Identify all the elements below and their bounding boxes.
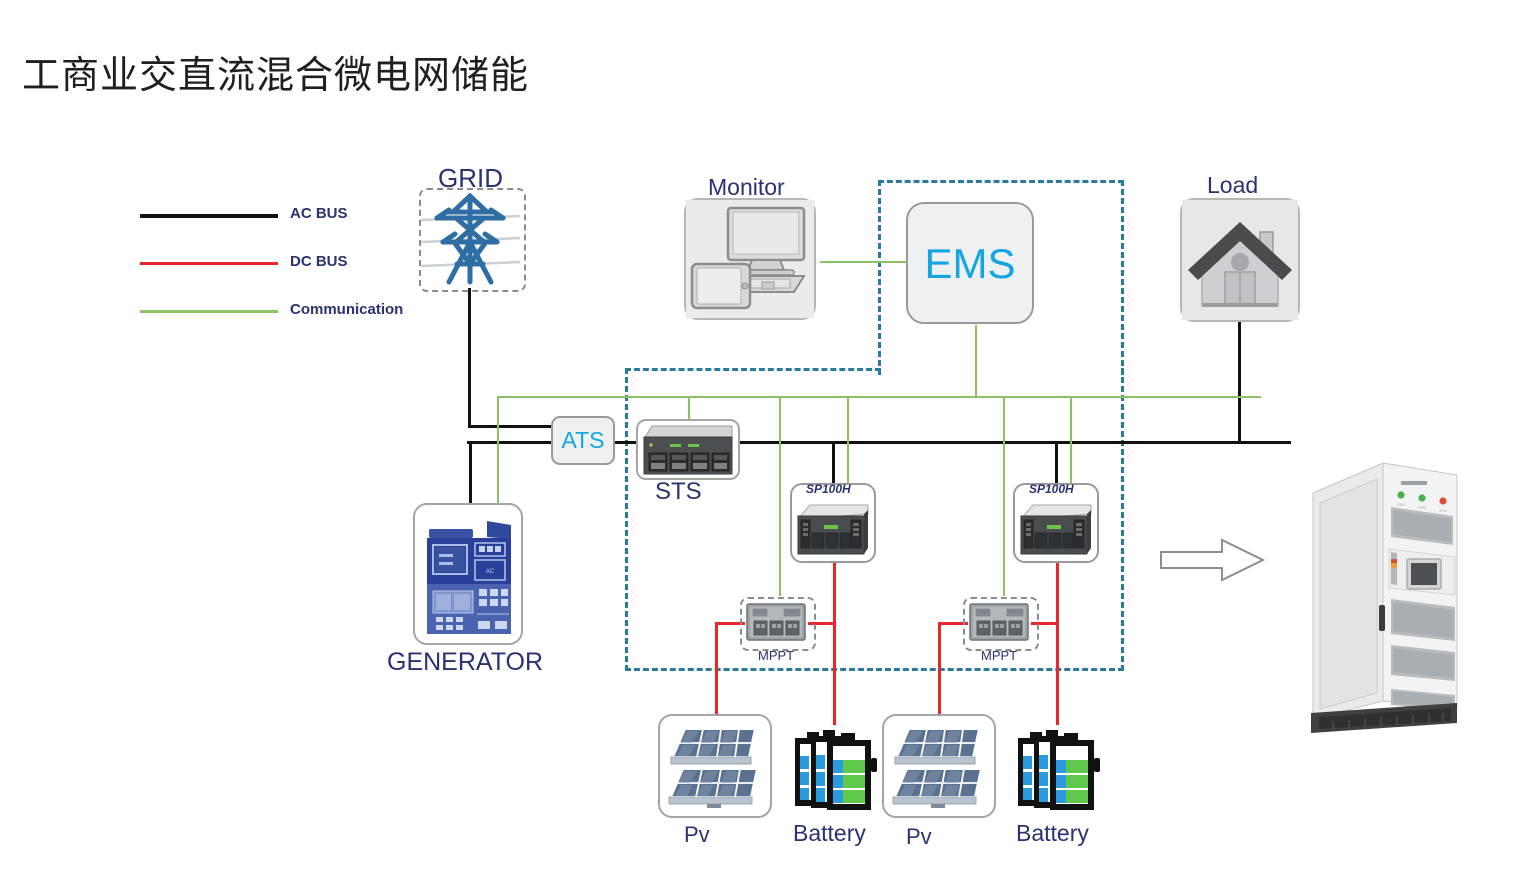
- solid-line-icon: [140, 262, 278, 265]
- rack-device-icon: [640, 423, 736, 476]
- comm-line-inverter1-drop: [847, 396, 849, 484]
- comm-line-mppt2-drop: [1003, 396, 1005, 596]
- legend-label-communication: Communication: [290, 301, 403, 318]
- inverter2-label: SP100H: [1029, 482, 1074, 496]
- page-title: 工商业交直流混合微电网储能: [22, 44, 529, 99]
- ac-line-grid-drop: [468, 288, 471, 427]
- solid-line-icon: [140, 214, 278, 218]
- comm-line-mppt1-drop: [779, 396, 781, 596]
- svg-text:ALM: ALM: [1439, 509, 1446, 513]
- dc-line-inverter1-to-battery: [833, 560, 836, 725]
- ac-line-generator-riser: [469, 441, 472, 503]
- solar-panel-icon: [663, 719, 767, 813]
- microgrid-zone-top-edge: [625, 368, 881, 371]
- comm-line-generator-riser: [497, 396, 499, 503]
- mppt-device-icon: [746, 602, 806, 642]
- pv1-label: Pv: [684, 822, 710, 848]
- mppt-device-icon: [969, 602, 1029, 642]
- solar-panel-icon: [887, 719, 991, 813]
- rack-inverter-icon: [796, 502, 870, 557]
- dc-line-pv1-riser: [715, 622, 718, 722]
- load-label: Load: [1207, 172, 1258, 199]
- ac-line-inverter2-drop: [1055, 441, 1058, 484]
- generator-label: GENERATOR: [387, 648, 543, 677]
- sts-label: STS: [655, 478, 702, 506]
- diagram-canvas: 工商业交直流混合微电网储能 AC BUS DC BUS Communicatio…: [0, 0, 1522, 886]
- energy-storage-cabinet-photo: RUN PWR ALM: [1305, 455, 1485, 735]
- legend-label-ac-bus: AC BUS: [290, 205, 348, 222]
- inverter1-label: SP100H: [806, 482, 851, 496]
- rack-inverter-icon: [1019, 502, 1093, 557]
- svg-text:PWR: PWR: [1418, 506, 1427, 510]
- ac-line-grid-to-ats: [468, 425, 552, 428]
- comm-bus-main-line: [497, 396, 1261, 398]
- monitor-label: Monitor: [708, 174, 785, 201]
- svg-text:RUN: RUN: [1397, 503, 1405, 507]
- comm-line-ems-drop: [975, 325, 977, 397]
- ems-label: EMS: [906, 240, 1034, 288]
- mppt1-label: MPPT: [758, 648, 794, 663]
- legend-label-dc-bus: DC BUS: [290, 253, 348, 270]
- solid-line-icon: [140, 310, 278, 313]
- mppt2-label: MPPT: [981, 648, 1017, 663]
- ats-label: ATS: [551, 427, 615, 454]
- battery-stack-icon: [789, 722, 881, 814]
- battery-stack-icon: [1012, 722, 1104, 814]
- right-arrow-icon: [1160, 536, 1265, 584]
- svg-text:AC: AC: [486, 569, 495, 575]
- generator-panel-icon: AC: [419, 509, 517, 639]
- dc-line-inverter2-to-battery: [1056, 560, 1059, 725]
- battery2-label: Battery: [1016, 820, 1089, 847]
- ac-line-inverter1-drop: [832, 441, 835, 484]
- house-icon: [1182, 200, 1298, 320]
- pv2-label: Pv: [906, 824, 932, 850]
- dc-line-pv2-riser: [938, 622, 941, 722]
- battery1-label: Battery: [793, 820, 866, 847]
- transmission-tower-icon: [421, 190, 520, 286]
- ac-line-load-riser: [1238, 322, 1241, 442]
- computer-workstation-icon: [686, 200, 814, 318]
- comm-line-inverter2-drop: [1070, 396, 1072, 484]
